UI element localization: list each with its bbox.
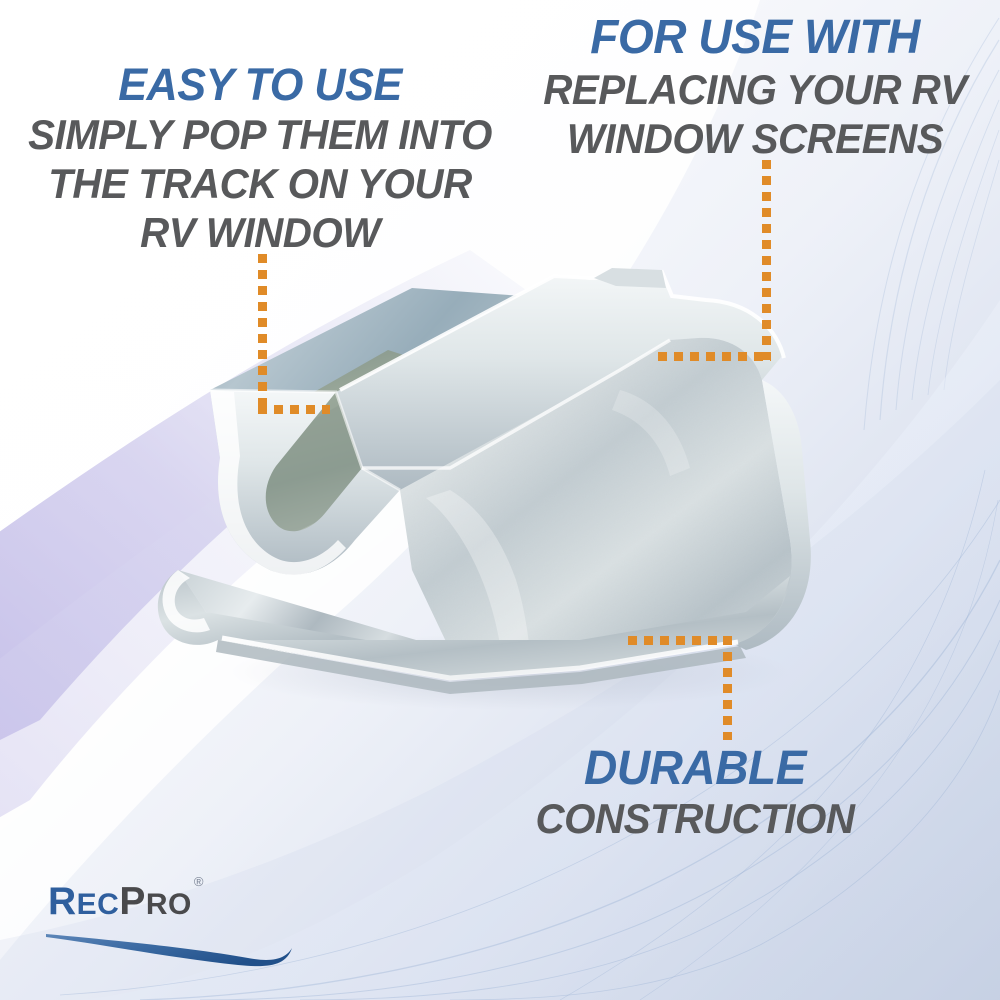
callout-easy-headline: EASY TO USE — [10, 62, 509, 108]
callout-foruse-line-2: WINDOW SCREENS — [529, 118, 980, 161]
leader-easy-vertical — [258, 254, 267, 414]
logo-p-rest: RO — [146, 888, 192, 921]
callout-foruse-line-1: REPLACING YOUR RV — [529, 69, 980, 112]
logo-pro-text: PRO — [119, 880, 192, 923]
leader-durable-horizontal — [628, 636, 732, 645]
logo-r-rest: EC — [77, 888, 120, 921]
callout-durable-construction: DURABLE CONSTRUCTION — [470, 745, 920, 841]
callout-easy-line-3: RV WINDOW — [10, 212, 509, 255]
logo-p-cap: P — [119, 880, 146, 923]
callout-durable-headline: DURABLE — [479, 745, 911, 794]
callout-easy-to-use: EASY TO USE SIMPLY POP THEM INTO THE TRA… — [0, 62, 520, 254]
registered-trademark-icon: ® — [194, 874, 204, 889]
recpro-logo: RECPRO® — [48, 882, 318, 967]
callout-durable-line-1: CONSTRUCTION — [479, 798, 911, 841]
callout-easy-line-1: SIMPLY POP THEM INTO — [10, 114, 509, 157]
leader-foruse-horizontal — [658, 352, 771, 361]
infographic-canvas: EASY TO USE SIMPLY POP THEM INTO THE TRA… — [0, 0, 1000, 1000]
callout-foruse-headline: FOR USE WITH — [529, 14, 980, 63]
leader-durable-vertical — [723, 636, 732, 740]
callout-easy-line-2: THE TRACK ON YOUR — [10, 163, 509, 206]
recpro-wordmark: RECPRO® — [48, 882, 318, 921]
callout-for-use-with: FOR USE WITH REPLACING YOUR RV WINDOW SC… — [520, 14, 990, 161]
logo-rec-text: REC — [48, 880, 119, 923]
logo-r-cap: R — [48, 880, 77, 923]
leader-easy-horizontal — [258, 405, 330, 414]
leader-foruse-vertical — [762, 160, 771, 360]
logo-swoosh-icon — [42, 928, 310, 968]
